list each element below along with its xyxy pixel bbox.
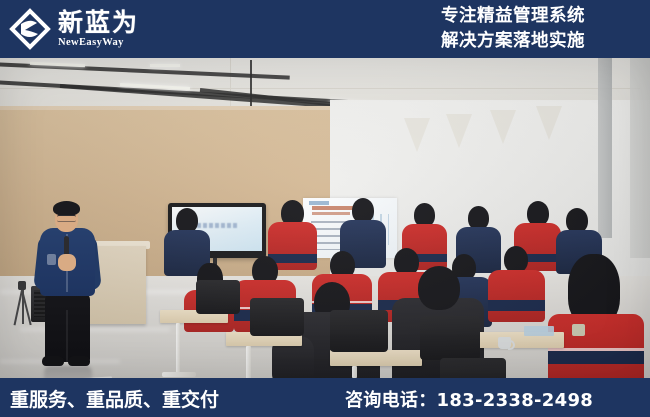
uniform-logo-patch [572,324,585,336]
brand-logo[interactable]: 新蓝为 NewEasyWay [8,7,139,51]
presenter-shoe-left [42,356,64,366]
chair [420,316,480,360]
desk [330,350,422,366]
chair [330,310,388,352]
attendee-head [504,246,528,273]
presenter-hands [58,254,76,271]
header-bar: 新蓝为 NewEasyWay 专注精益管理系统 解决方案落地实施 [0,0,650,58]
presenter-glasses [57,215,76,222]
floor-reflection [44,366,92,378]
presenter-badge [47,254,56,265]
brand-wordmark: 新蓝为 NewEasyWay [58,10,139,49]
presenter-shoe-right [68,356,90,366]
chair [196,280,240,314]
camera-tripod-head [18,281,26,290]
chair [250,298,304,336]
paper-sheet [524,326,554,336]
promotional-banner: 新蓝为 NewEasyWay 专注精益管理系统 解决方案落地实施 [0,0,650,417]
brand-name-en: NewEasyWay [58,38,139,49]
brand-name-cn: 新蓝为 [58,10,139,35]
diamond-swirl-logo-icon [8,7,52,51]
chair [440,358,506,378]
header-slogan: 专注精益管理系统 解决方案落地实施 [441,4,585,54]
mug [498,337,511,349]
wall-column [598,58,612,238]
attendee-torso [488,270,545,322]
wall-column-edge [630,58,650,258]
training-classroom-photo [0,58,650,378]
phone-label: 咨询电话： [345,390,437,411]
footer-slogan: 重服务、重品质、重交付 [10,385,219,412]
header-slogan-line-1: 专注精益管理系统 [441,4,585,29]
header-slogan-line-2: 解决方案落地实施 [441,29,585,54]
attendee-head [418,266,460,310]
phone-number: 183-2338-2498 [437,390,594,411]
footer-bar: 重服务、重品质、重交付 咨询电话：183-2338-2498 [0,378,650,417]
footer-phone[interactable]: 咨询电话：183-2338-2498 [345,386,593,412]
